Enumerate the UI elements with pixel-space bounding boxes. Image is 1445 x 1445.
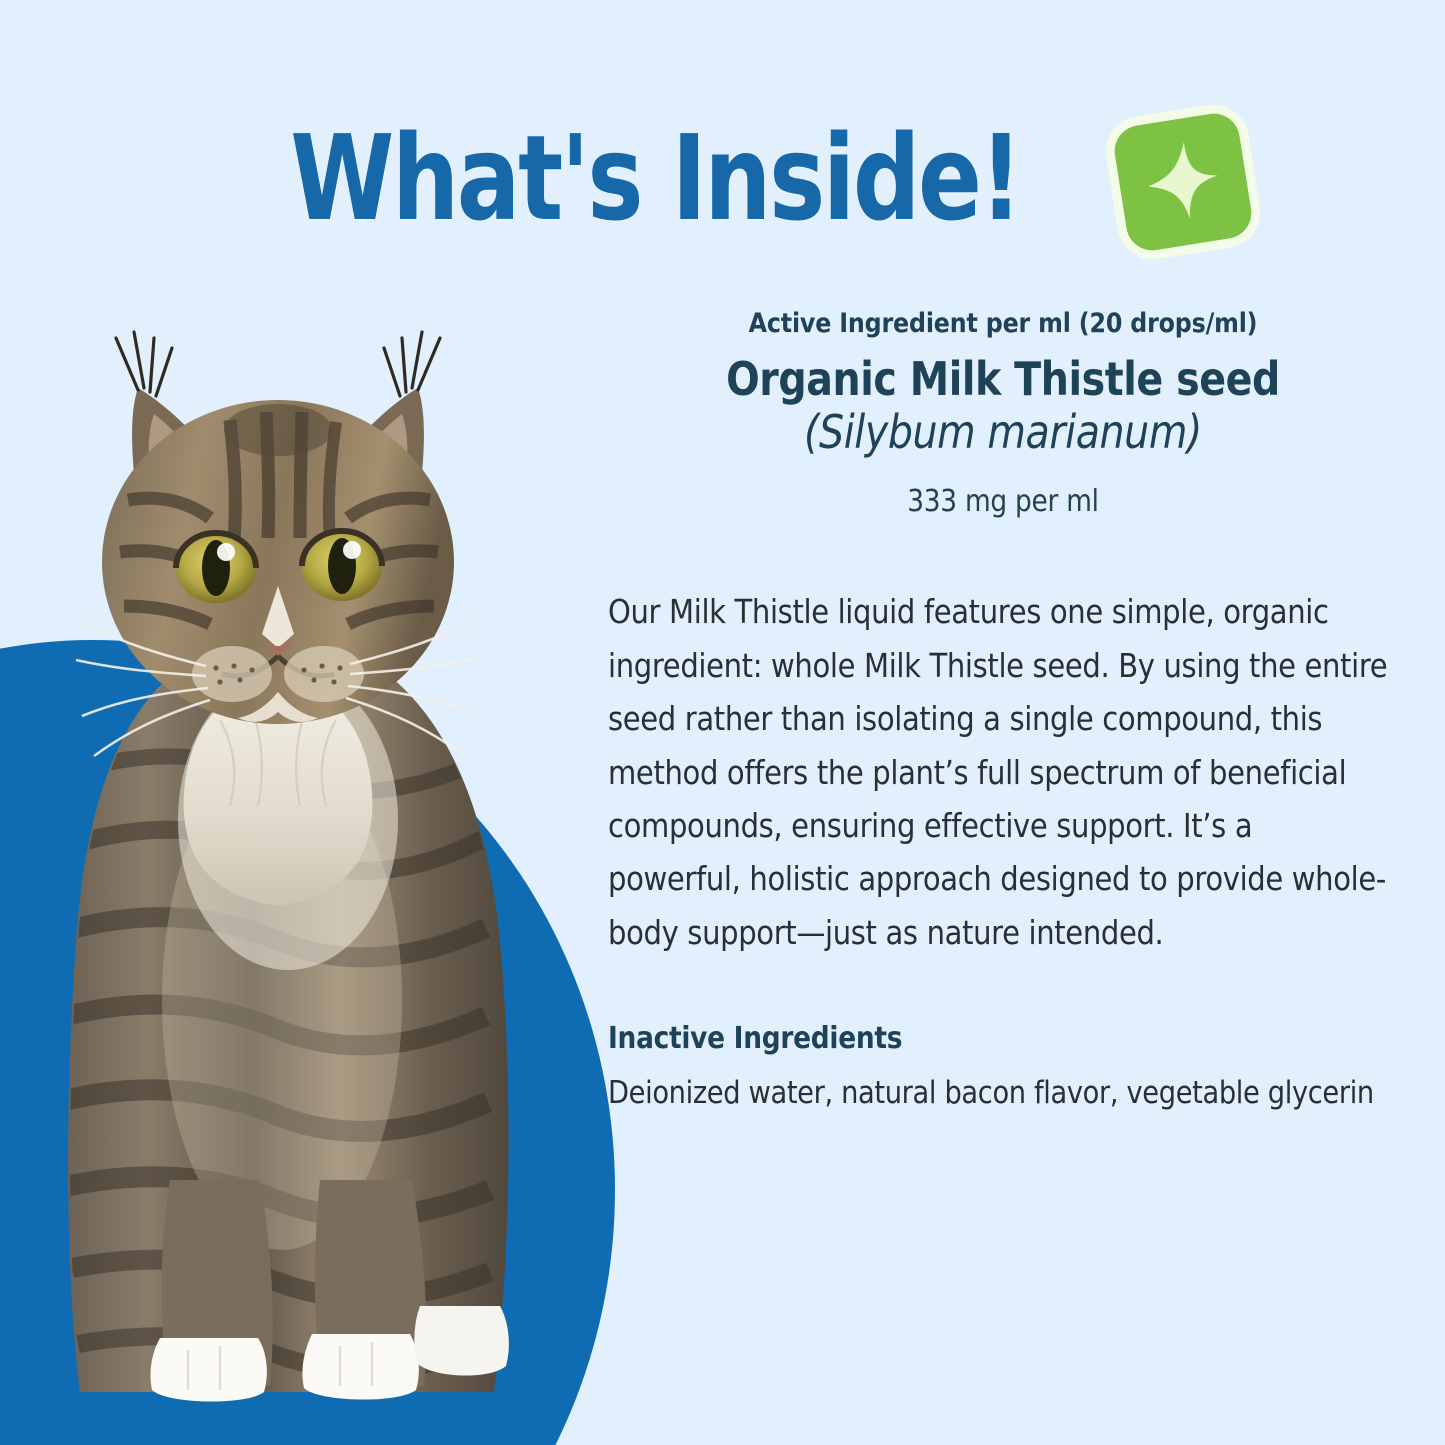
- ingredient-description: Our Milk Thistle liquid features one sim…: [608, 585, 1391, 959]
- ingredients-panel: Active Ingredient per ml (20 drops/ml) O…: [608, 308, 1398, 1119]
- product-ingredients-panel: What's Inside!: [0, 0, 1445, 1445]
- sparkle-glyph: [1111, 110, 1255, 254]
- ingredient-name: Organic Milk Thistle seed: [663, 355, 1342, 405]
- cat-illustration: [20, 300, 580, 1445]
- inactive-ingredients-list: Deionized water, natural bacon flavor, v…: [608, 1068, 1382, 1118]
- ingredient-latin-name: (Silybum marianum): [663, 407, 1342, 459]
- inactive-ingredients-heading: Inactive Ingredients: [608, 1021, 1303, 1056]
- page-title: What's Inside!: [290, 119, 1020, 245]
- active-ingredient-heading: Active Ingredient per ml (20 drops/ml): [655, 308, 1350, 339]
- sparkle-icon: [1120, 119, 1246, 245]
- ingredient-dose: 333 mg per ml: [655, 484, 1350, 519]
- cat-photo: [20, 300, 580, 1445]
- header: What's Inside!: [0, 92, 1445, 272]
